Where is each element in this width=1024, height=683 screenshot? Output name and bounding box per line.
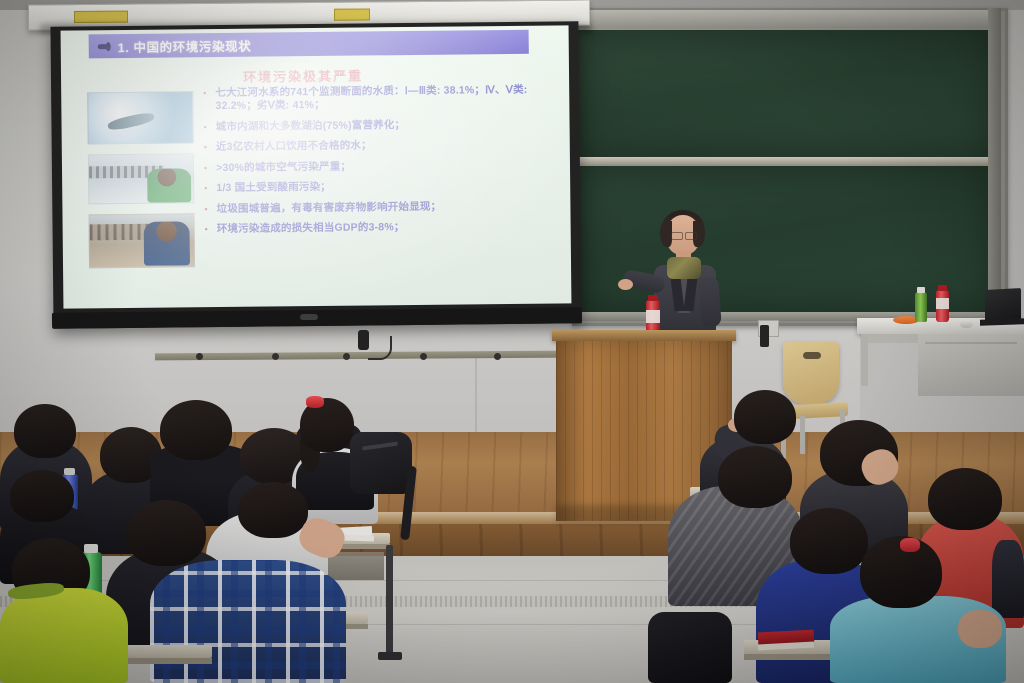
lecturer — [620, 215, 730, 335]
student-head — [160, 400, 232, 460]
coat-hook[interactable] — [420, 353, 427, 360]
student-head — [790, 508, 868, 574]
bullet-marker: • — [204, 142, 207, 156]
list-item: • >30%的城市空气污染严重； — [204, 158, 550, 175]
blackboard-top-rail — [574, 10, 1000, 28]
student-hand — [958, 610, 1002, 648]
screen-pull-knob[interactable] — [300, 314, 318, 320]
bottle-cap — [938, 285, 947, 291]
student-head — [126, 500, 206, 566]
table-leg — [861, 334, 868, 386]
bottle-label — [936, 298, 949, 309]
bullet-text: 七大江河水系的741个监测断面的水质：Ⅰ—Ⅲ类: 38.1%；Ⅳ、Ⅴ类: 32.… — [215, 84, 549, 114]
pointing-hand-icon — [98, 42, 111, 51]
black-backpack — [648, 612, 732, 683]
plug-in-outlet — [760, 325, 769, 347]
red-hair-scrunchie — [306, 396, 324, 408]
blackboard-upper-panel — [578, 30, 996, 157]
housing-label-left — [74, 11, 128, 23]
student-head — [718, 446, 792, 508]
green-tea-bottle — [915, 292, 927, 322]
bullet-text: 环境污染造成的损失相当GDP的3-8%； — [217, 221, 405, 236]
blackboard-right-post — [988, 8, 1001, 320]
coat-hook[interactable] — [196, 353, 203, 360]
coat-hook[interactable] — [494, 353, 501, 360]
lecturer-glasses-right — [685, 232, 697, 240]
bullet-text: 1/3 国土受到酸雨污染； — [216, 181, 331, 196]
lecturer-glasses-left — [671, 232, 683, 240]
list-item: • 近3亿农村人口饮用不合格的水； — [204, 138, 550, 155]
podium-bottle-label — [646, 310, 660, 323]
chalk-ledge — [576, 157, 998, 166]
bullet-marker: • — [203, 87, 206, 114]
student-far-right — [992, 540, 1024, 618]
desk-foot — [378, 652, 402, 660]
bottle-cap — [84, 544, 98, 553]
bullet-text: 城市内湖和大多数湖泊(75%)富营养化； — [216, 119, 406, 134]
lecturer-hand — [618, 279, 633, 290]
coat-hook[interactable] — [343, 353, 350, 360]
slide-heading: 环境污染极其严重 — [243, 66, 363, 86]
bullet-marker: • — [204, 162, 207, 176]
chair-handle-cutout — [803, 352, 821, 359]
slide-bullet-list: • 七大江河水系的741个监测断面的水质：Ⅰ—Ⅲ类: 38.1%；Ⅳ、Ⅴ类: 3… — [203, 84, 551, 244]
bullet-marker: • — [204, 183, 207, 197]
desk-leg — [386, 545, 393, 657]
bullet-text: >30%的城市空气污染严重； — [216, 161, 351, 176]
slide-surface: 1. 中国的环境污染现状 环境污染极其严重 • 七大江河水系的741个监测断面的… — [61, 25, 572, 308]
cabinet-drawer-line — [925, 342, 1017, 344]
lecture-hall-photo: 1. 中国的环境污染现状 环境污染极其严重 • 七大江河水系的741个监测断面的… — [0, 0, 1024, 683]
black-backpack — [350, 432, 412, 494]
bottle-cap — [917, 287, 925, 293]
list-item: • 垃圾围城普遍，有毒有害废弃物影响开始显现； — [204, 199, 550, 216]
slide-thumbnail-riverbank-boy — [88, 213, 195, 268]
list-item: • 1/3 国土受到酸雨污染； — [204, 179, 550, 196]
lectern-top — [552, 330, 736, 341]
slide-thumbnail-polluted-water — [87, 91, 194, 144]
student-head — [14, 404, 76, 458]
housing-label-center — [334, 8, 370, 20]
loose-papers — [344, 534, 374, 541]
list-item: • 七大江河水系的741个监测断面的水质：Ⅰ—Ⅲ类: 38.1%；Ⅳ、Ⅴ类: 3… — [203, 84, 549, 114]
bottle-cap — [64, 468, 75, 475]
student-head — [238, 482, 308, 538]
list-item: • 环境污染造成的损失相当GDP的3-8%； — [205, 220, 551, 237]
computer-mouse[interactable] — [960, 320, 973, 328]
bullet-marker: • — [204, 121, 207, 135]
lecturer-arm-right — [698, 276, 721, 327]
bullet-text: 垃圾围城普遍，有毒有害废弃物影响开始显现； — [217, 201, 442, 217]
slide-thumbnail-bridge-villager — [88, 153, 195, 204]
chair-leg — [800, 416, 805, 454]
coat-hook[interactable] — [272, 353, 279, 360]
bullet-text: 近3亿农村人口饮用不合格的水； — [216, 140, 372, 155]
bullet-marker: • — [205, 224, 208, 238]
student-yellow-green-jacket — [0, 588, 128, 683]
slide-title: 1. 中国的环境污染现状 — [118, 35, 252, 55]
podium-bottle-cap — [648, 295, 658, 301]
slide-body: 环境污染极其严重 • 七大江河水系的741个监测断面的水质：Ⅰ—Ⅲ类: 38.1… — [83, 58, 555, 303]
bullet-marker: • — [204, 203, 207, 217]
student-head — [928, 468, 1002, 530]
student-head — [734, 390, 796, 444]
slide-title-bar: 1. 中国的环境污染现状 — [89, 30, 529, 59]
list-item: • 城市内湖和大多数湖泊(75%)富营养化； — [204, 117, 550, 134]
red-hair-scrunchie — [900, 538, 920, 552]
hanging-cable — [368, 336, 392, 360]
table-apron — [861, 334, 921, 343]
student-head — [10, 470, 74, 522]
student-blue-plaid — [150, 560, 346, 683]
lecturer-scarf — [667, 257, 701, 279]
